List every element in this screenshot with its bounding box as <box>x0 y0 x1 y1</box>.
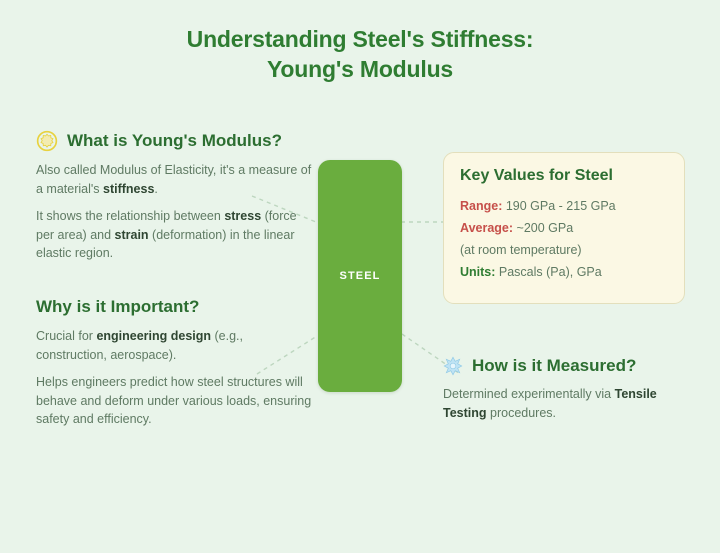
page-title: Understanding Steel's Stiffness: Young's… <box>0 24 720 84</box>
gear-icon <box>36 130 58 152</box>
key-values-label-units: Units: <box>460 265 495 279</box>
key-values-value-note: (at room temperature) <box>460 243 582 257</box>
what-p2-bold-stress: stress <box>224 209 261 223</box>
key-values-value-units: Pascals (Pa), GPa <box>495 265 601 279</box>
page-title-line-2: Young's Modulus <box>0 54 720 84</box>
section-header-measured: How is it Measured? <box>443 355 693 377</box>
what-p2-part1: It shows the relationship between <box>36 209 224 223</box>
burst-icon <box>443 356 463 376</box>
what-paragraph-2: It shows the relationship between stress… <box>36 207 312 263</box>
why-p1-part1: Crucial for <box>36 329 96 343</box>
measured-paragraph-1: Determined experimentally via Tensile Te… <box>443 385 693 422</box>
what-p2-bold-strain: strain <box>115 228 149 242</box>
section-why-is-it-important: Why is it Important? Crucial for enginee… <box>36 296 312 429</box>
what-p1-part1: Also called Modulus of Elasticity, it's … <box>36 163 311 196</box>
key-values-value-average: ~200 GPa <box>513 221 573 235</box>
key-values-row-average: Average: ~200 GPa <box>460 217 668 239</box>
what-p1-part2: . <box>154 182 157 196</box>
measured-p1-part2: procedures. <box>487 406 556 420</box>
key-values-label-range: Range: <box>460 199 502 213</box>
section-heading-what: What is Young's Modulus? <box>67 130 282 152</box>
section-header-why: Why is it Important? <box>36 296 312 318</box>
section-header-what: What is Young's Modulus? <box>36 130 312 152</box>
what-paragraph-1: Also called Modulus of Elasticity, it's … <box>36 161 312 198</box>
steel-block: STEEL <box>318 160 402 392</box>
key-values-row-range: Range: 190 GPa - 215 GPa <box>460 195 668 217</box>
section-how-is-it-measured: How is it Measured? Determined experimen… <box>443 355 693 422</box>
connector-steel-to-key-values <box>400 212 448 232</box>
key-values-label-average: Average: <box>460 221 513 235</box>
section-what-is-youngs-modulus: What is Young's Modulus? Also called Mod… <box>36 130 312 263</box>
why-paragraph-2: Helps engineers predict how steel struct… <box>36 373 312 429</box>
key-values-value-range: 190 GPa - 215 GPa <box>502 199 615 213</box>
why-p1-bold-engineering-design: engineering design <box>96 329 211 343</box>
measured-p1-part1: Determined experimentally via <box>443 387 615 401</box>
key-values-row-note: (at room temperature) <box>460 239 668 261</box>
section-heading-measured: How is it Measured? <box>472 355 636 377</box>
steel-block-label: STEEL <box>340 270 381 282</box>
why-paragraph-1: Crucial for engineering design (e.g., co… <box>36 327 312 364</box>
key-values-card: Key Values for Steel Range: 190 GPa - 21… <box>443 152 685 304</box>
page-title-line-1: Understanding Steel's Stiffness: <box>0 24 720 54</box>
key-values-card-title: Key Values for Steel <box>460 166 668 186</box>
key-values-row-units: Units: Pascals (Pa), GPa <box>460 261 668 283</box>
infographic-canvas: Understanding Steel's Stiffness: Young's… <box>0 0 720 553</box>
what-p1-bold-stiffness: stiffness <box>103 182 154 196</box>
section-heading-why: Why is it Important? <box>36 296 199 318</box>
